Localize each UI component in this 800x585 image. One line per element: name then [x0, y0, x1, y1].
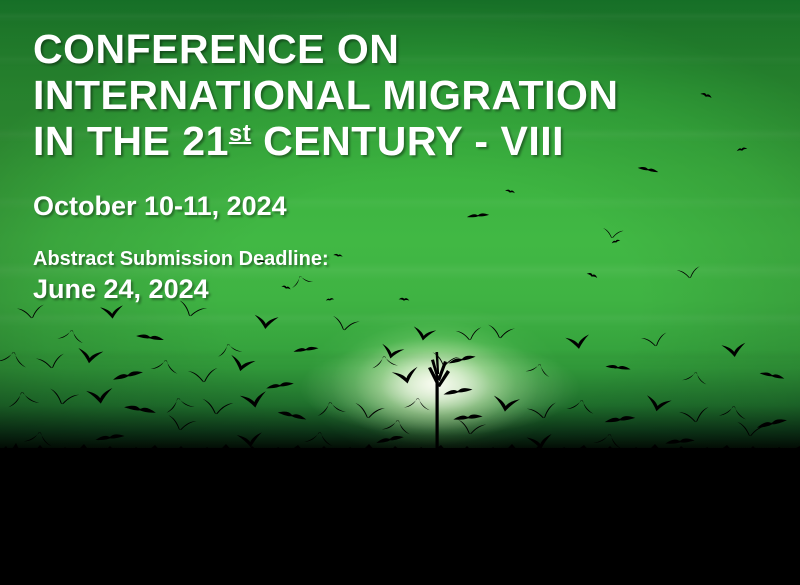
poster-title-line-3: IN THE 21st CENTURY - VIII — [33, 118, 693, 171]
ordinal-suffix: st — [229, 120, 251, 147]
title-line3-tail: CENTURY - VIII — [251, 118, 564, 164]
title-line3-head: IN THE 21 — [33, 118, 229, 164]
conference-poster: CONFERENCE ON INTERNATIONAL MIGRATION IN… — [0, 0, 800, 585]
poster-text-block: CONFERENCE ON INTERNATIONAL MIGRATION IN… — [33, 26, 693, 305]
deadline-date: June 24, 2024 — [33, 271, 693, 305]
poster-title-line-2: INTERNATIONAL MIGRATION — [33, 72, 693, 118]
poster-title-line-1: CONFERENCE ON — [33, 26, 693, 72]
deadline-label: Abstract Submission Deadline: — [33, 222, 693, 271]
conference-dates: October 10-11, 2024 — [33, 171, 693, 222]
ground-silhouette — [0, 448, 800, 585]
